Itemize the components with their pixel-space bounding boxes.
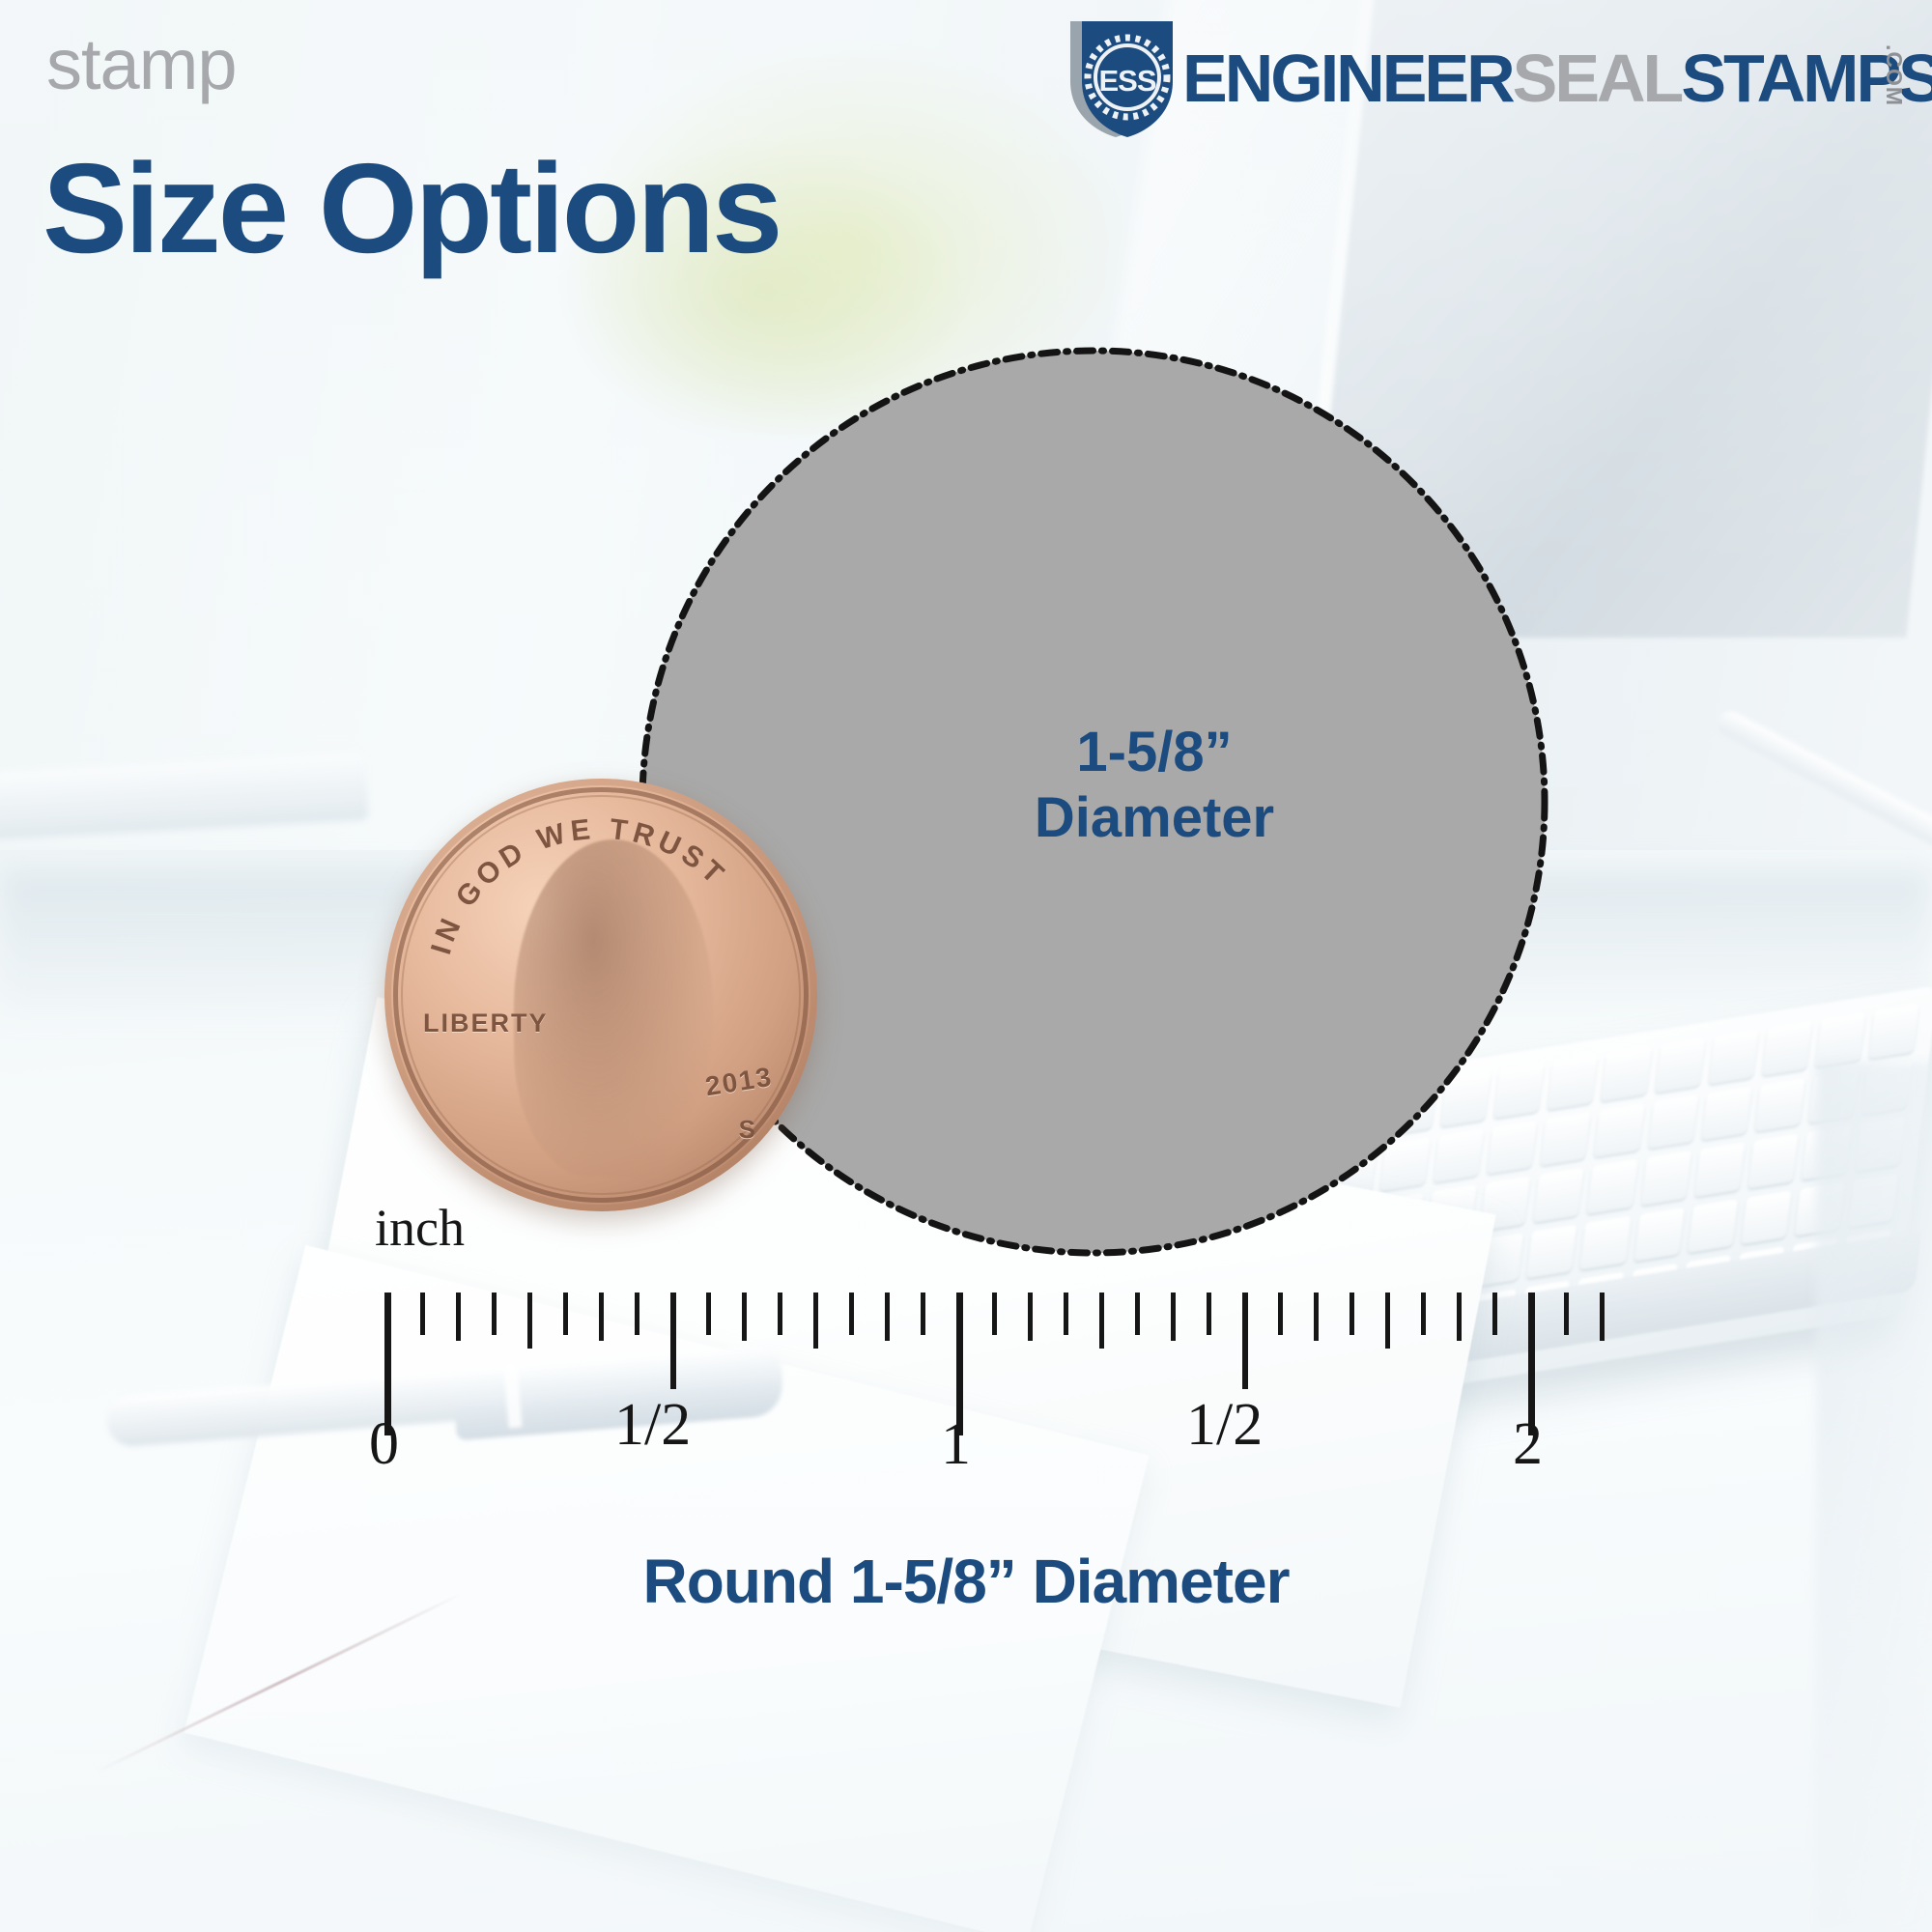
- ruler-tick: [921, 1293, 925, 1335]
- ruler-tick: [778, 1293, 782, 1335]
- ruler-tick: [563, 1293, 568, 1335]
- ruler-tick: [849, 1293, 854, 1335]
- ruler-tick: [1171, 1293, 1176, 1341]
- ruler-tick: [813, 1293, 818, 1349]
- ruler-tick: [456, 1293, 461, 1341]
- circle-size-unit: Diameter: [952, 785, 1357, 851]
- svg-text:ESS: ESS: [1098, 64, 1155, 98]
- penny-coin: IN GOD WE TRUST LIBERTY 2013 S: [384, 779, 817, 1211]
- ruler-tick: [992, 1293, 997, 1335]
- ruler-tick: [742, 1293, 747, 1341]
- ruler-tick: [1099, 1293, 1104, 1349]
- ruler-tick: [1492, 1293, 1497, 1335]
- logo-word-seal: SEAL: [1513, 41, 1682, 116]
- page-title: Size Options: [43, 145, 780, 272]
- ruler-tick: [1278, 1293, 1283, 1335]
- ruler-tick: [1314, 1293, 1319, 1341]
- ruler-tick: [1421, 1293, 1426, 1335]
- ruler-tick: [1207, 1293, 1211, 1335]
- circle-size-value: 1-5/8”: [952, 720, 1357, 785]
- ruler-tick: [1028, 1293, 1033, 1341]
- ruler-tick: [1135, 1293, 1140, 1335]
- logo-tld: .COM: [1881, 44, 1907, 106]
- logo-word-engineer: ENGINEER: [1182, 41, 1513, 116]
- logo-wordmark: ENGINEERSEALSTAMPS: [1182, 44, 1932, 112]
- ruler-unit-label: inch: [375, 1198, 465, 1258]
- size-caption: Round 1-5/8” Diameter: [0, 1546, 1932, 1617]
- brand-logo[interactable]: ESS ENGINEERSEALSTAMPS .COM: [1061, 17, 1911, 141]
- penny-liberty-text: LIBERTY: [423, 1009, 549, 1038]
- ruler-tick-label: 1/2: [614, 1391, 691, 1460]
- ruler-tick-label: 1: [941, 1410, 971, 1479]
- ruler-tick: [706, 1293, 711, 1335]
- ruler-tick: [1564, 1293, 1569, 1335]
- ruler-tick: [670, 1293, 676, 1389]
- penny-mint-mark: S: [739, 1115, 757, 1145]
- ruler-tick: [885, 1293, 890, 1341]
- circle-size-label: 1-5/8” Diameter: [952, 720, 1357, 852]
- ruler-tick: [1350, 1293, 1354, 1335]
- ruler-tick: [1385, 1293, 1390, 1349]
- ruler-tick: [1600, 1293, 1605, 1341]
- svg-text:IN GOD WE TRUST: IN GOD WE TRUST: [425, 813, 733, 958]
- ruler-tick-label: 2: [1513, 1410, 1543, 1479]
- ruler-tick: [599, 1293, 604, 1341]
- size-options-graphic: stamp Size Options ESS ENGINEERSEALSTAMP…: [0, 0, 1932, 1932]
- ruler-tick: [420, 1293, 425, 1335]
- ess-shield-gear-icon: ESS: [1061, 17, 1184, 141]
- ruler-tick: [1457, 1293, 1462, 1341]
- ruler-tick: [492, 1293, 497, 1335]
- kicker-text: stamp: [46, 29, 237, 100]
- ruler-tick: [1242, 1293, 1248, 1389]
- ruler-tick: [1064, 1293, 1068, 1335]
- ruler-tick: [527, 1293, 532, 1349]
- ruler-tick-label: 0: [369, 1410, 399, 1479]
- ruler-tick-label: 1/2: [1186, 1391, 1263, 1460]
- ruler-tick: [635, 1293, 639, 1335]
- inch-ruler: inch 01/211/22: [0, 1227, 1932, 1536]
- penny-motto-arc: IN GOD WE TRUST: [384, 779, 817, 1211]
